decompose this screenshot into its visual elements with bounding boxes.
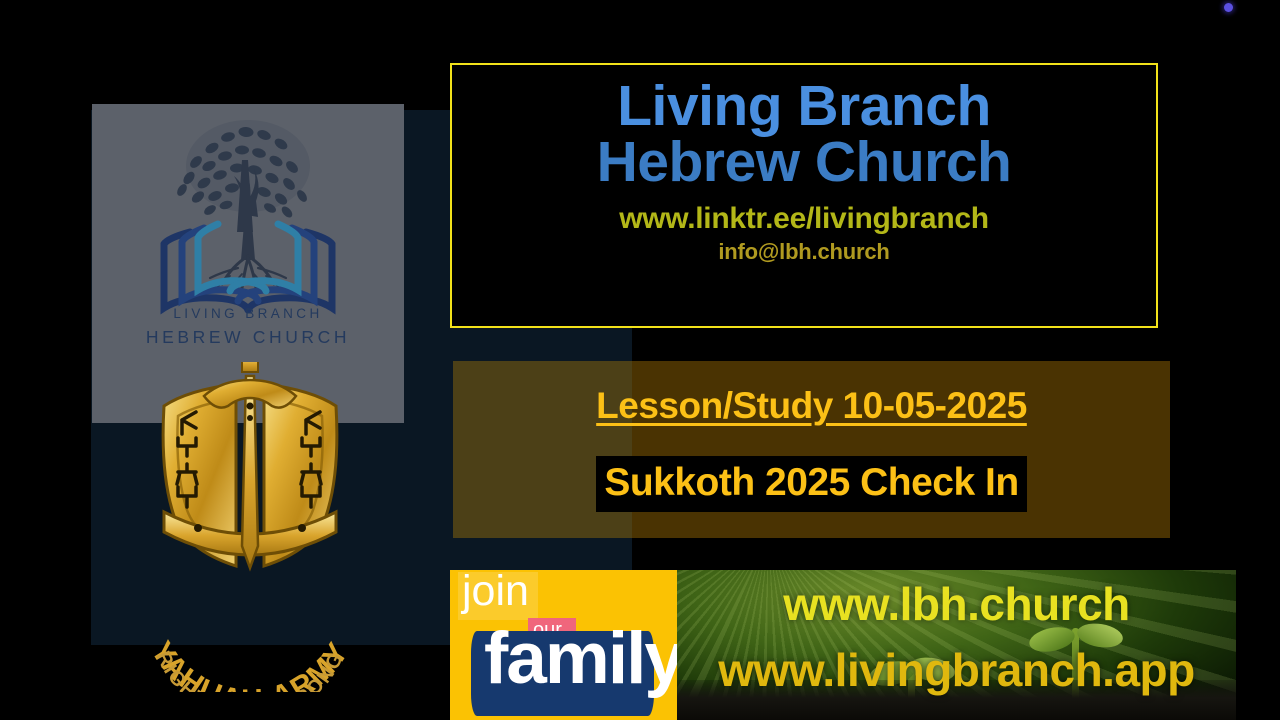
title-line-1: Living Branch <box>617 74 991 138</box>
lesson-heading: Lesson/Study 10-05-2025 <box>453 385 1170 427</box>
join-label: join <box>462 570 529 613</box>
contact-email[interactable]: info@lbh.church <box>718 239 889 265</box>
page-title: Living Branch Hebrew Church <box>597 79 1012 191</box>
lesson-subject: Sukkoth 2025 Check In <box>453 456 1170 512</box>
linktree-url[interactable]: www.linktr.ee/livingbranch <box>619 202 989 236</box>
lesson-subject-text: Sukkoth 2025 Check In <box>596 456 1026 512</box>
yahuah-army-emblem: YAHUAH.ARMY RIGHTEOUS STRONG <box>120 362 380 692</box>
church-logo-line2: HEBREW CHURCH <box>92 324 404 350</box>
corner-indicator-dot <box>1224 3 1233 12</box>
banner-url-primary[interactable]: www.lbh.church <box>677 577 1236 631</box>
church-header-box: Living Branch Hebrew Church www.linktr.e… <box>450 63 1158 328</box>
bottom-banner: join our family www.lbh.church www.livin… <box>450 570 1236 720</box>
family-banner-shape: family <box>471 631 654 716</box>
family-label: family <box>484 622 683 695</box>
lesson-study-box: Lesson/Study 10-05-2025 Sukkoth 2025 Che… <box>453 361 1170 538</box>
sprout-photo-background: www.lbh.church www.livingbranch.app <box>677 570 1236 720</box>
church-logo-line1: LIVING BRANCH <box>92 304 404 324</box>
slide-canvas: LIVING BRANCH HEBREW CHURCH <box>0 0 1280 720</box>
title-line-2: Hebrew Church <box>597 135 1012 191</box>
church-logo-wordmark: LIVING BRANCH HEBREW CHURCH <box>92 304 404 351</box>
lesson-heading-text: Lesson/Study 10-05-2025 <box>596 385 1027 426</box>
banner-url-secondary[interactable]: www.livingbranch.app <box>677 643 1236 697</box>
join-word-block: join <box>458 572 538 620</box>
join-our-family-logo[interactable]: join our family <box>450 570 677 720</box>
